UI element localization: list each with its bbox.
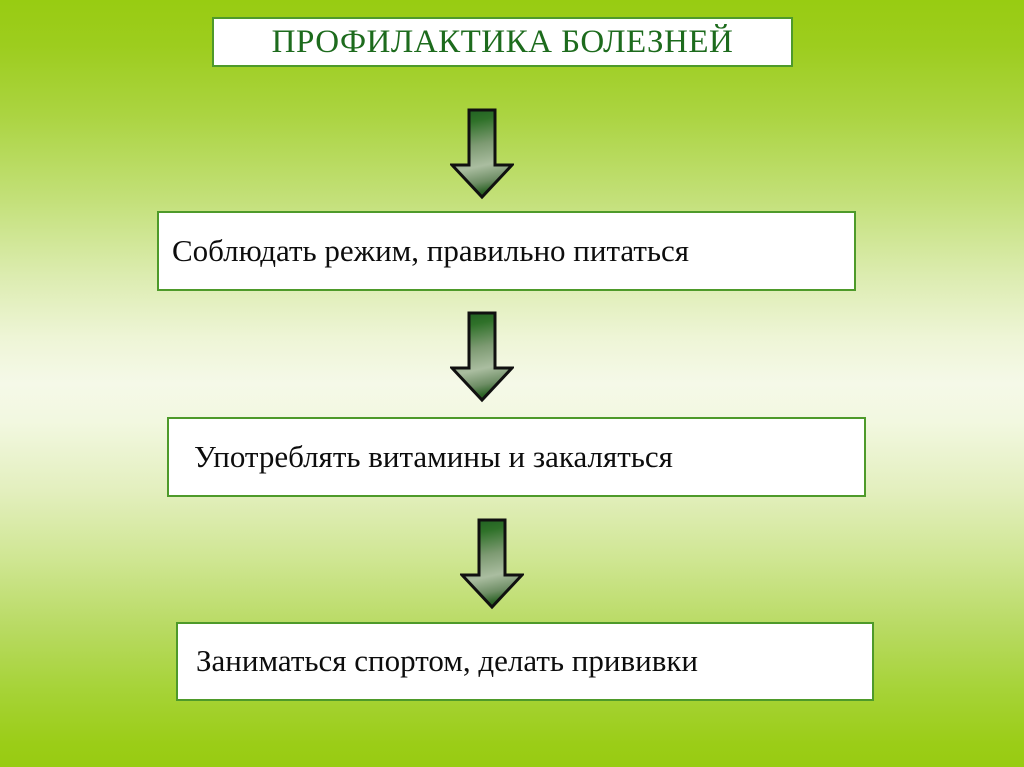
flow-step-box-3: Заниматься спортом, делать прививки (176, 622, 874, 701)
down-arrow-icon (450, 311, 514, 403)
slide-canvas: ПРОФИЛАКТИКА БОЛЕЗНЕЙ Соблюдать режим, п… (0, 0, 1024, 767)
flow-step-box-1: Соблюдать режим, правильно питаться (157, 211, 856, 291)
flow-step-label-2: Употреблять витамины и закаляться (169, 440, 673, 474)
slide-title-box: ПРОФИЛАКТИКА БОЛЕЗНЕЙ (212, 17, 793, 67)
down-arrow-icon (450, 108, 514, 200)
down-arrow-icon (460, 518, 524, 610)
flow-step-box-2: Употреблять витамины и закаляться (167, 417, 866, 497)
page-title: ПРОФИЛАКТИКА БОЛЕЗНЕЙ (272, 26, 734, 59)
flow-step-label-3: Заниматься спортом, делать прививки (178, 644, 698, 678)
flow-step-label-1: Соблюдать режим, правильно питаться (159, 234, 689, 268)
